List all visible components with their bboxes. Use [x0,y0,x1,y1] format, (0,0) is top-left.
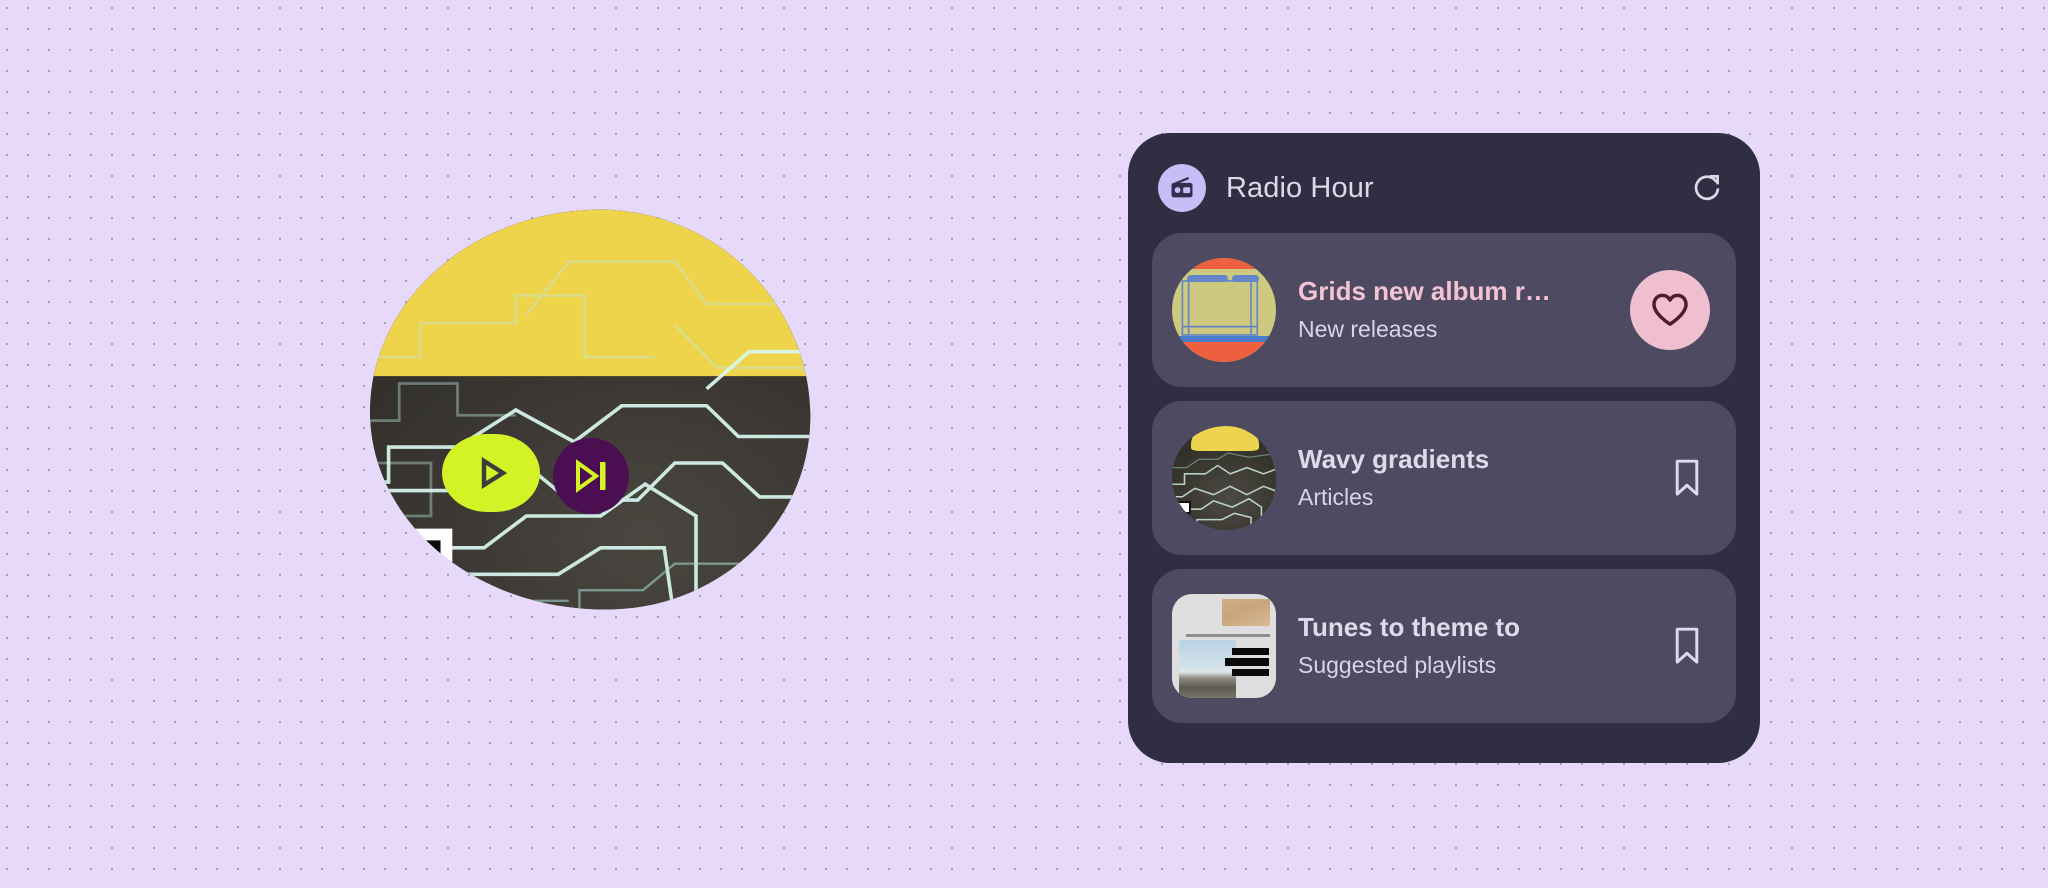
item-subtitle: Articles [1298,484,1664,512]
refresh-icon [1690,171,1724,205]
skip-next-icon [571,458,611,494]
grids-thumbnail [1172,258,1276,362]
refresh-button[interactable] [1686,167,1728,209]
wavy-gradients-thumbnail [1172,426,1276,530]
item-subtitle: Suggested playlists [1298,652,1664,680]
list-item[interactable]: Tunes to theme to Suggested playlists [1152,569,1736,723]
next-button[interactable] [553,438,629,514]
item-subtitle: New releases [1298,316,1630,344]
panel-title: Radio Hour [1226,172,1666,205]
list-item[interactable]: Wavy gradients Articles [1152,401,1736,555]
bookmark-button[interactable] [1664,620,1710,672]
radio-item-list: Grids new album r… New releases [1152,233,1736,723]
item-text: Wavy gradients Articles [1298,444,1664,511]
item-title: Grids new album r… [1298,276,1630,308]
bookmark-icon [1670,625,1704,667]
radio-hour-panel: Radio Hour [1128,133,1760,763]
play-icon [471,453,511,493]
radio-avatar [1158,164,1206,212]
heart-icon [1650,291,1690,329]
radio-icon [1168,174,1196,202]
item-text: Tunes to theme to Suggested playlists [1298,612,1664,679]
favorite-button[interactable] [1630,270,1710,350]
playlist-document-thumbnail [1172,594,1276,698]
artwork-white-notch [363,529,452,618]
panel-header: Radio Hour [1152,157,1736,219]
album-artwork-area [250,150,900,670]
item-title: Wavy gradients [1298,444,1664,476]
bookmark-icon [1670,457,1704,499]
item-title: Tunes to theme to [1298,612,1664,644]
item-text: Grids new album r… New releases [1298,276,1630,343]
album-artwork-image [363,202,817,617]
bookmark-button[interactable] [1664,452,1710,504]
list-item[interactable]: Grids new album r… New releases [1152,233,1736,387]
play-button[interactable] [442,434,540,512]
